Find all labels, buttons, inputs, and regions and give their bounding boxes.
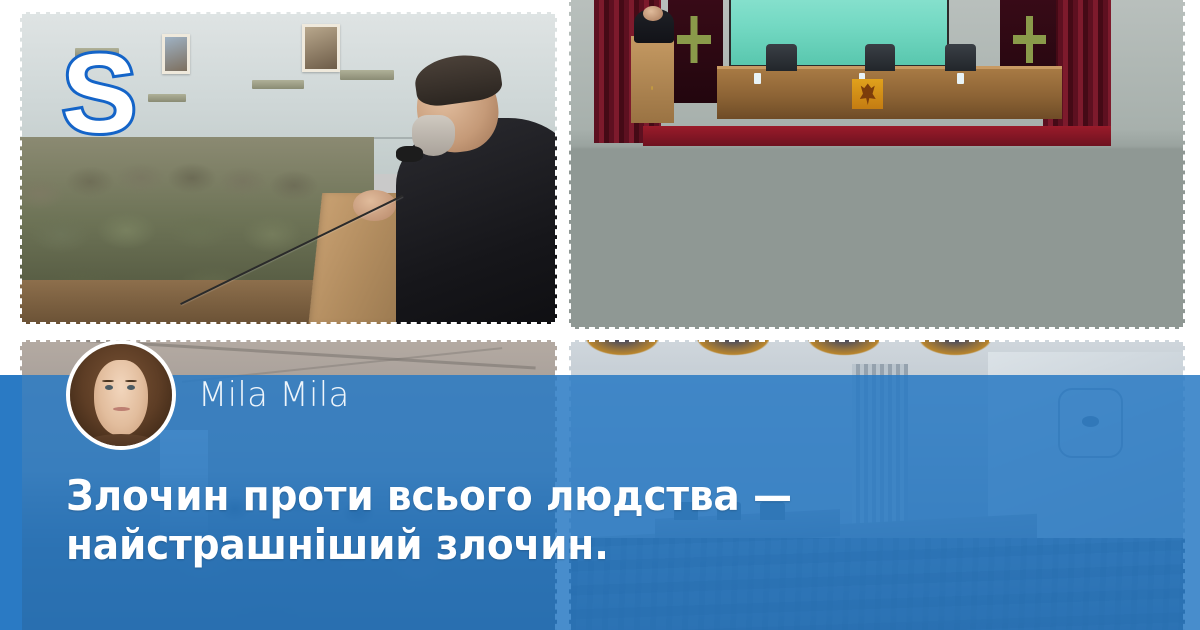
avatar-face — [94, 360, 147, 435]
military-cross-emblem-icon — [677, 16, 711, 63]
podium-emblem-icon — [652, 86, 653, 90]
headline: Злочин проти всього людства — найстрашні… — [66, 472, 1059, 569]
avatar-eye — [127, 385, 135, 390]
projection-screen — [729, 0, 949, 67]
avatar[interactable] — [66, 340, 176, 450]
coat-of-arms-icon — [852, 79, 883, 109]
presidium-table — [717, 66, 1062, 119]
speaker-podium — [631, 36, 674, 123]
wall-portrait-icon — [302, 24, 340, 72]
speaker-head — [643, 6, 663, 21]
wall-portrait-icon — [162, 34, 190, 74]
soldier-audience — [569, 143, 1185, 329]
collage-tile-top-right[interactable] — [569, 0, 1185, 329]
presidium-chair — [945, 44, 976, 71]
photo-auditorium-assembly — [569, 0, 1185, 329]
military-cross-emblem-icon — [1013, 16, 1047, 63]
water-bottle — [754, 73, 761, 84]
presidium-chair — [865, 44, 896, 71]
microphone-icon — [396, 146, 423, 162]
wall-plaque — [148, 94, 186, 102]
byline: Mila Mila — [66, 340, 350, 450]
site-logo-s-icon[interactable]: S — [62, 38, 137, 150]
wall-plaque — [252, 80, 304, 89]
presidium-chair — [766, 44, 797, 71]
water-bottle — [957, 73, 964, 84]
wall-plaque — [340, 70, 394, 80]
author-name: Mila Mila — [198, 375, 350, 415]
blue-overlay-left-edge — [0, 375, 22, 630]
social-share-card: S Mila Mila Злочин проти всього людства … — [0, 0, 1200, 630]
avatar-eye — [105, 385, 113, 390]
